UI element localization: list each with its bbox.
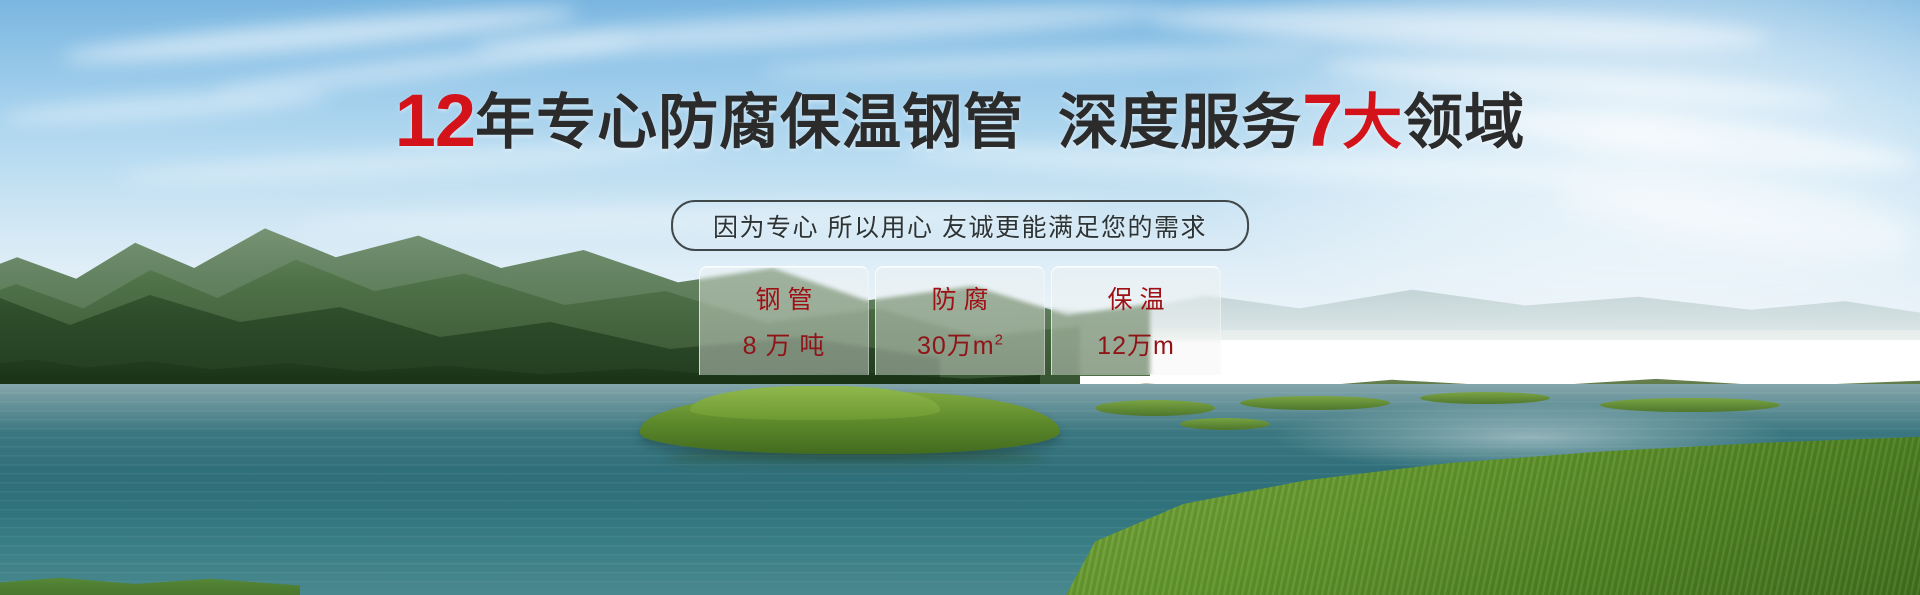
hero-banner: 12年专心防腐保温钢管深度服务7大领域 因为专心 所以用心 友诚更能满足您的需求… (0, 0, 1920, 595)
stat-card-group: 钢管 8 万 吨 防腐 30万m2 保温 12万m (699, 266, 1221, 375)
stat-value-text: 8 万 吨 (743, 332, 826, 360)
headline-fields-number: 7 (1302, 79, 1342, 162)
headline-main-text: 年专心防腐保温钢管 (475, 89, 1024, 156)
stat-value: 12万m (1097, 326, 1175, 362)
banner-headline: 12年专心防腐保温钢管深度服务7大领域 (0, 82, 1920, 160)
headline-years-number: 12 (395, 79, 475, 162)
banner-subtitle-pill: 因为专心 所以用心 友诚更能满足您的需求 (671, 200, 1249, 251)
headline-fields-text: 领域 (1403, 89, 1525, 156)
stat-card-insulation: 保温 12万m (1051, 266, 1221, 375)
stat-card-steel-pipe: 钢管 8 万 吨 (699, 266, 869, 375)
stat-label: 钢管 (748, 280, 819, 316)
stat-value: 30万m2 (917, 326, 1003, 362)
headline-service-text: 深度服务 (1058, 89, 1302, 156)
stat-value-text: 30万m (917, 332, 995, 360)
banner-content: 12年专心防腐保温钢管深度服务7大领域 因为专心 所以用心 友诚更能满足您的需求… (0, 0, 1920, 595)
stat-value-text: 12万m (1097, 332, 1175, 360)
stat-label: 防腐 (924, 280, 995, 316)
stat-value: 8 万 吨 (743, 326, 826, 362)
banner-subtitle-text: 因为专心 所以用心 友诚更能满足您的需求 (713, 208, 1207, 244)
stat-card-anticorrosion: 防腐 30万m2 (875, 266, 1045, 375)
stat-value-superscript: 2 (995, 332, 1003, 349)
stat-label: 保温 (1100, 280, 1171, 316)
headline-fields-measure: 大 (1342, 89, 1403, 156)
